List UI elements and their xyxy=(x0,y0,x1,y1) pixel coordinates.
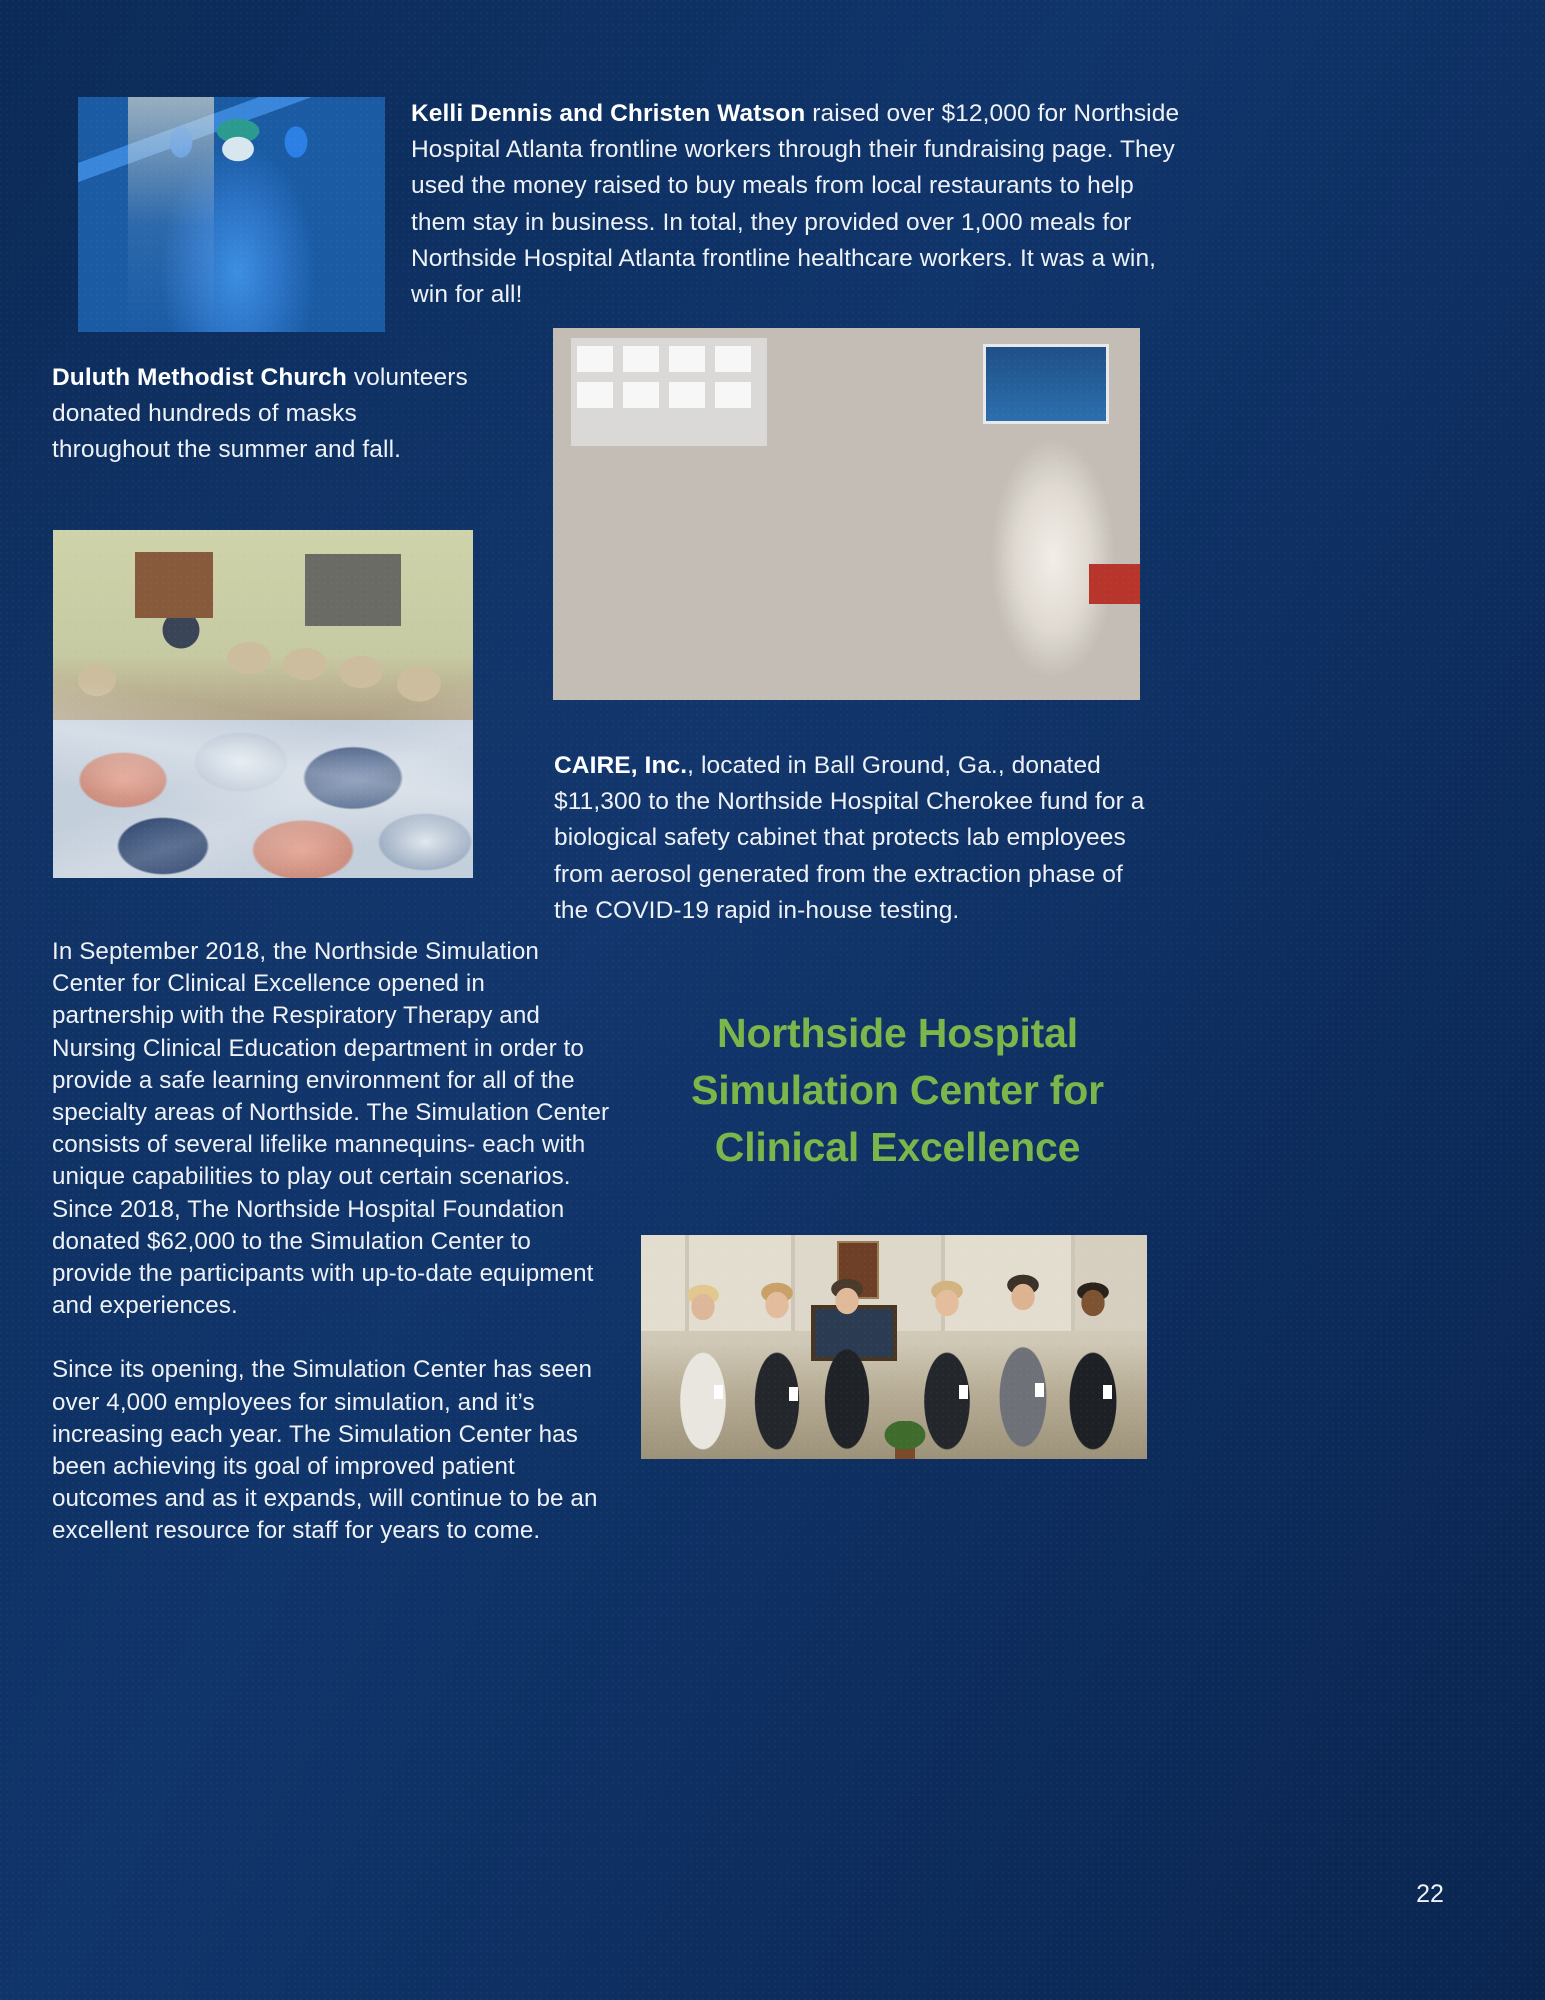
photo-healthcare-worker-glare xyxy=(128,97,214,332)
story-duluth-lead: Duluth Methodist Church xyxy=(52,364,347,391)
story-caire-inc: CAIRE, Inc., located in Ball Ground, Ga.… xyxy=(554,748,1154,929)
story-simulation-center-body: In September 2018, the Northside Simulat… xyxy=(52,936,612,1548)
story-kelli-lead: Kelli Dennis and Christen Watson xyxy=(411,100,805,127)
story-kelli-dennis: Kelli Dennis and Christen Watson raised … xyxy=(411,96,1186,313)
photo-lab-posted-notes xyxy=(571,338,767,446)
story-caire-lead: CAIRE, Inc. xyxy=(554,752,687,779)
simulation-center-heading: Northside Hospital Simulation Center for… xyxy=(645,1005,1150,1176)
photo-lab-monitor xyxy=(983,344,1109,424)
story-duluth-methodist-church: Duluth Methodist Church volunteers donat… xyxy=(52,360,472,469)
photo-healthcare-worker-image xyxy=(78,97,385,332)
page-number: 22 xyxy=(1400,1880,1460,1909)
story-kelli-body: raised over $12,000 for Northside Hospit… xyxy=(411,100,1179,308)
page-canvas: Kelli Dennis and Christen Watson raised … xyxy=(0,0,1545,2000)
photo-simulation-center-staff xyxy=(641,1235,1147,1459)
photo-lab-biosafety-cabinet xyxy=(553,328,1140,700)
photo-lab-sharps-container xyxy=(1089,564,1140,604)
photo-donated-masks xyxy=(53,530,473,878)
story-simulation-paragraph-1: In September 2018, the Northside Simulat… xyxy=(52,936,612,1322)
story-simulation-paragraph-2: Since its opening, the Simulation Center… xyxy=(52,1354,612,1547)
photo-healthcare-worker xyxy=(78,97,385,332)
photo-staff-potted-plant xyxy=(877,1421,933,1459)
photo-donated-masks-plastic-sheen xyxy=(53,530,473,878)
